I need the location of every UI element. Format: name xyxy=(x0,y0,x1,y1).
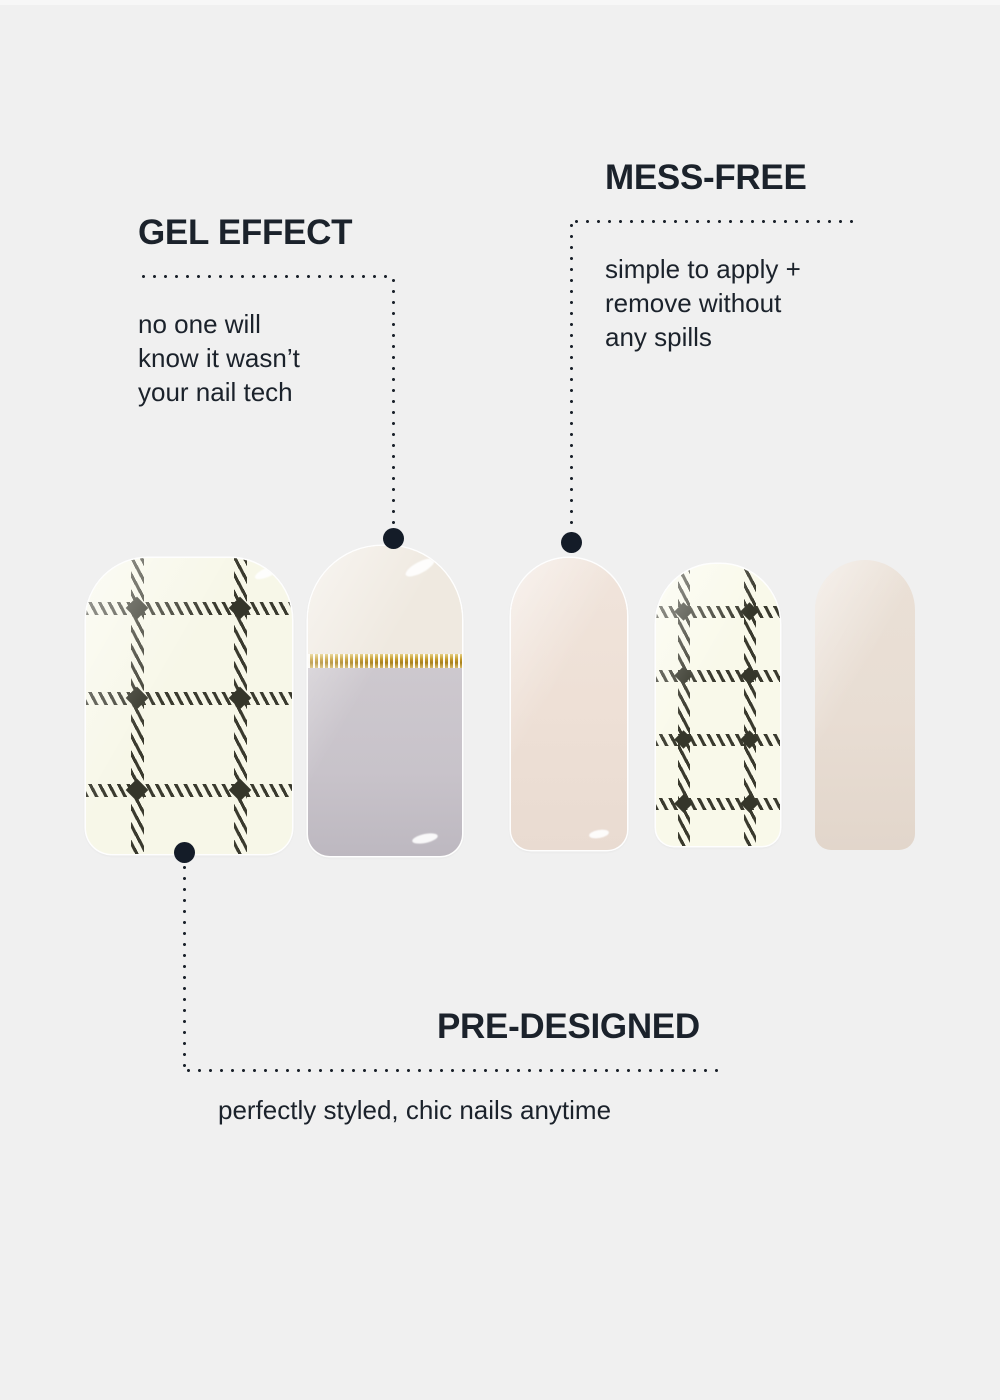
mess-free-connector-horizontal xyxy=(571,220,855,223)
plaid-narrow-nail-sticker[interactable] xyxy=(656,564,780,846)
sticker-gloss xyxy=(511,558,627,850)
sticker-gloss xyxy=(815,560,915,850)
plaid-diamond xyxy=(229,597,252,620)
sticker-top-block xyxy=(308,546,462,654)
cream-gold-grey-nail-sticker[interactable] xyxy=(308,546,462,856)
mess-free-body: simple to apply + remove without any spi… xyxy=(605,252,801,354)
mess-free-body-line: simple to apply + xyxy=(605,252,801,286)
gold-glitter-stripe xyxy=(308,654,462,668)
gel-effect-body: no one will know it wasn’t your nail tec… xyxy=(138,307,300,409)
nude-solid-nail-sticker[interactable] xyxy=(511,558,627,850)
mess-free-connector-node xyxy=(561,532,582,553)
top-hairline xyxy=(0,0,1000,5)
pre-designed-connector-node xyxy=(174,842,195,863)
plaid-hline xyxy=(86,784,292,797)
sticker-bottom-block xyxy=(308,668,462,856)
pre-designed-connector-vertical xyxy=(183,862,186,1070)
gel-effect-connector-node xyxy=(383,528,404,549)
mess-free-body-line: remove without xyxy=(605,286,801,320)
pre-designed-body-line: perfectly styled, chic nails anytime xyxy=(218,1093,611,1127)
mess-free-body-line: any spills xyxy=(605,320,801,354)
plaid-diamond xyxy=(126,687,149,710)
gel-effect-body-line: no one will xyxy=(138,307,300,341)
plaid-diamond xyxy=(229,779,252,802)
beige-solid-nail-sticker[interactable] xyxy=(815,560,915,850)
pre-designed-headline: PRE-DESIGNED xyxy=(437,1009,700,1044)
gel-effect-connector-horizontal xyxy=(138,275,394,278)
plaid-diamond xyxy=(126,779,149,802)
pre-designed-body: perfectly styled, chic nails anytime xyxy=(218,1093,611,1127)
plaid-pattern xyxy=(656,564,780,846)
gel-effect-body-line: know it wasn’t xyxy=(138,341,300,375)
plaid-wide-nail-sticker[interactable] xyxy=(86,558,292,854)
pre-designed-connector-horizontal xyxy=(183,1069,725,1072)
gel-effect-body-line: your nail tech xyxy=(138,375,300,409)
sticker-highlight xyxy=(588,828,609,839)
plaid-pattern xyxy=(86,558,292,854)
plaid-hline xyxy=(86,602,292,615)
mess-free-headline: MESS-FREE xyxy=(605,160,807,195)
plaid-hline xyxy=(86,692,292,705)
mess-free-connector-vertical xyxy=(570,220,573,535)
gel-effect-connector-vertical xyxy=(392,275,395,533)
plaid-diamond xyxy=(126,597,149,620)
plaid-diamond xyxy=(229,687,252,710)
infographic-stage: GEL EFFECT no one will know it wasn’t yo… xyxy=(0,0,1000,1400)
gel-effect-headline: GEL EFFECT xyxy=(138,215,352,250)
